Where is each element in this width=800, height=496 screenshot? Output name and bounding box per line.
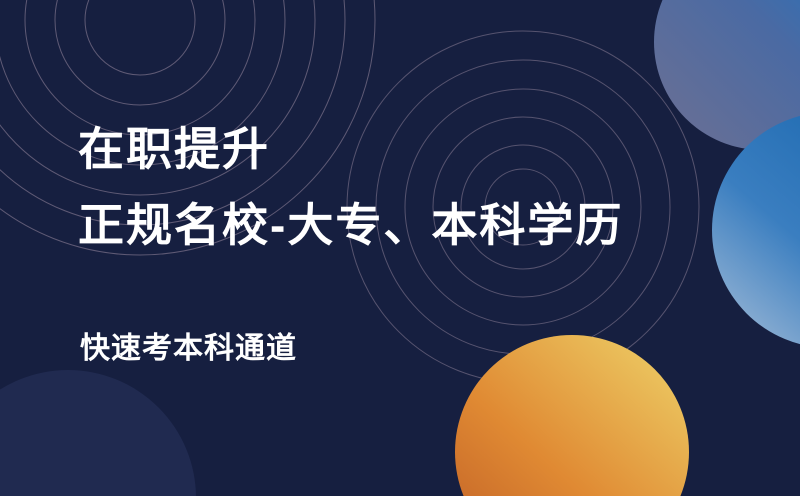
blue-gradient-circle-lower [712,112,800,348]
sub-headline: 快速考本科通道 [80,328,623,370]
headline-line-2: 正规名校-大专、本科学历 [78,194,623,256]
soft-navy-circle-bottom-left [0,370,196,496]
headline-line-1: 在职提升 [78,118,623,180]
headline-block: 在职提升 正规名校-大专、本科学历 快速考本科通道 [78,118,623,370]
blue-gradient-circle-upper [654,0,800,150]
promo-banner: 在职提升 正规名校-大专、本科学历 快速考本科通道 [0,0,800,496]
